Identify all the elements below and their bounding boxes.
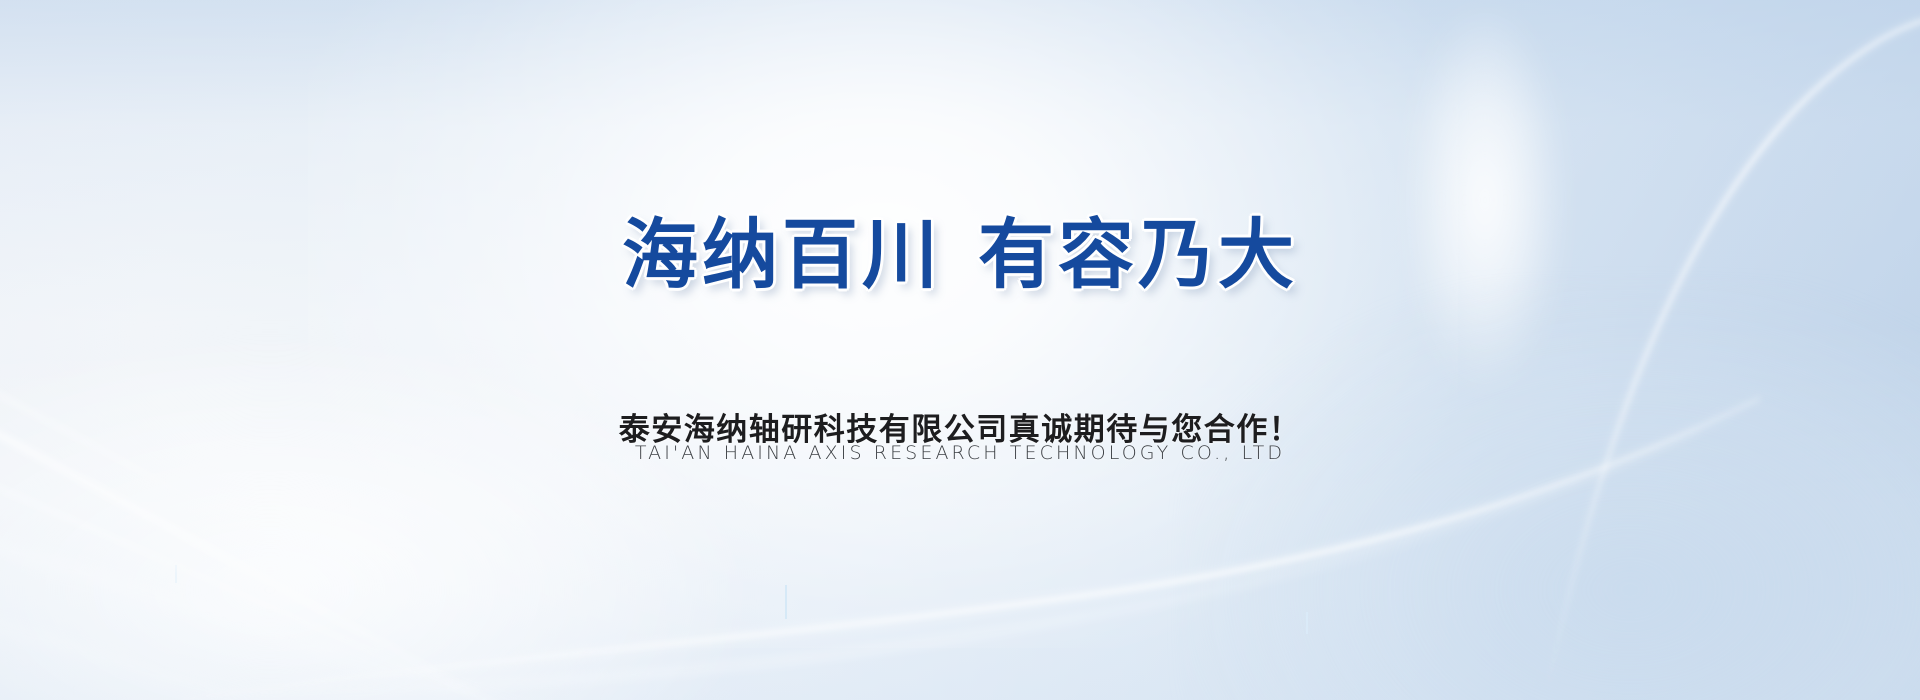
headline-part-two: 有容乃大 [978,213,1298,298]
banner-subtitle-english: TAI'AN HAINA AXIS RESEARCH TECHNOLOGY CO… [0,442,1920,464]
headline-part-one: 海纳百川 [622,213,942,298]
hero-banner: 海纳百川有容乃大 泰安海纳轴研科技有限公司真诚期待与您合作！ TAI'AN HA… [0,0,1920,700]
banner-content: 海纳百川有容乃大 泰安海纳轴研科技有限公司真诚期待与您合作！ TAI'AN HA… [0,0,1920,700]
banner-headline: 海纳百川有容乃大 [0,216,1920,296]
